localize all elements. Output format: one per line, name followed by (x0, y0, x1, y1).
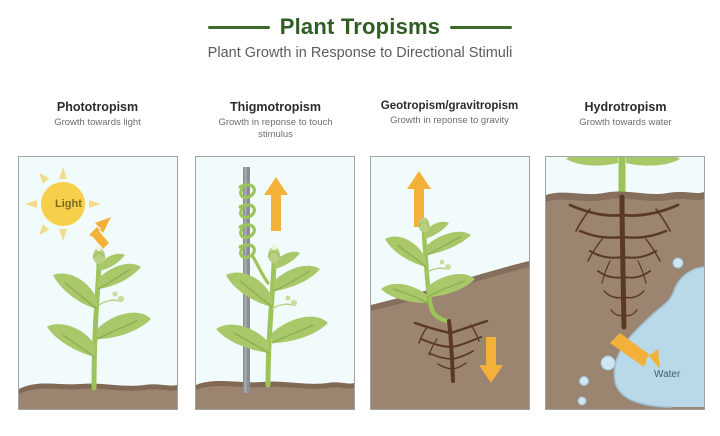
panel-title: Phototropism (10, 100, 185, 114)
floret-cluster (272, 295, 297, 309)
title-row: Plant Tropisms (0, 14, 720, 40)
panel-heading-geotropism: Geotropism/gravitropism Growth in repons… (362, 100, 537, 127)
panel-subtitle: Growth in reponse to touch stimulus (188, 117, 363, 141)
leaf (626, 157, 680, 166)
panel-geotropism (370, 156, 530, 410)
thigmotropism-illustration (196, 157, 354, 409)
title-rule-left (208, 26, 270, 29)
panel-thigmotropism (195, 156, 355, 410)
droplet (578, 397, 586, 405)
light-direction-arrow (89, 217, 111, 249)
light-label: Light (55, 198, 82, 210)
panel-title: Thigmotropism (188, 100, 363, 114)
panel-subtitle: Growth in reponse to gravity (362, 115, 537, 127)
droplet (673, 258, 683, 268)
flower-bud (268, 244, 280, 263)
panel-subtitle: Growth towards light (10, 117, 185, 129)
plant-top (566, 157, 680, 195)
droplet (580, 377, 589, 386)
header: Plant Tropisms Plant Growth in Response … (0, 0, 720, 88)
water-label: Water (654, 369, 680, 380)
floret-cluster (426, 260, 451, 273)
panel-phototropism: Light (18, 156, 178, 410)
floret-cluster (99, 291, 124, 305)
geotropism-illustration (371, 157, 529, 409)
title-rule-right (450, 26, 512, 29)
panel-heading-thigmotropism: Thigmotropism Growth in reponse to touch… (188, 100, 363, 141)
gravity-arrow-up (407, 171, 431, 227)
page-subtitle: Plant Growth in Response to Directional … (0, 45, 720, 61)
touch-direction-arrow (264, 177, 288, 231)
stem (268, 261, 274, 385)
panel-hydrotropism: Water (545, 156, 705, 410)
flower-bud (419, 218, 430, 233)
page-title: Plant Tropisms (280, 14, 441, 40)
panel-title: Hydrotropism (538, 100, 713, 114)
leaf (566, 157, 618, 166)
panel-subtitle: Growth towards water (538, 117, 713, 129)
phototropism-illustration (19, 157, 177, 409)
droplet (601, 356, 615, 370)
panel-title: Geotropism/gravitropism (362, 100, 537, 112)
panel-heading-phototropism: Phototropism Growth towards light (10, 100, 185, 129)
panel-heading-hydrotropism: Hydrotropism Growth towards water (538, 100, 713, 129)
plant-shape (47, 245, 151, 388)
plant-shape (216, 244, 328, 385)
